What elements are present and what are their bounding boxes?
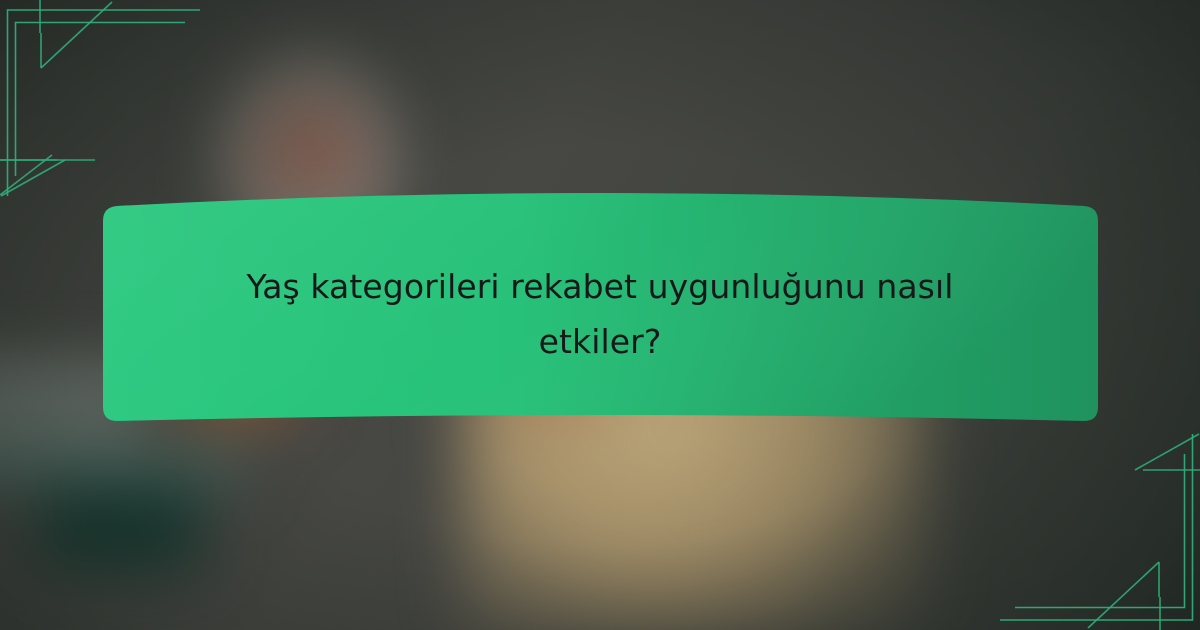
social-card-canvas: Yaş kategorileri rekabet uygunluğunu nas…	[0, 0, 1200, 630]
question-headline: Yaş kategorileri rekabet uygunluğunu nas…	[210, 259, 990, 369]
question-card: Yaş kategorileri rekabet uygunluğunu nas…	[0, 0, 1200, 630]
question-card-text-block: Yaş kategorileri rekabet uygunluğunu nas…	[140, 207, 1060, 421]
